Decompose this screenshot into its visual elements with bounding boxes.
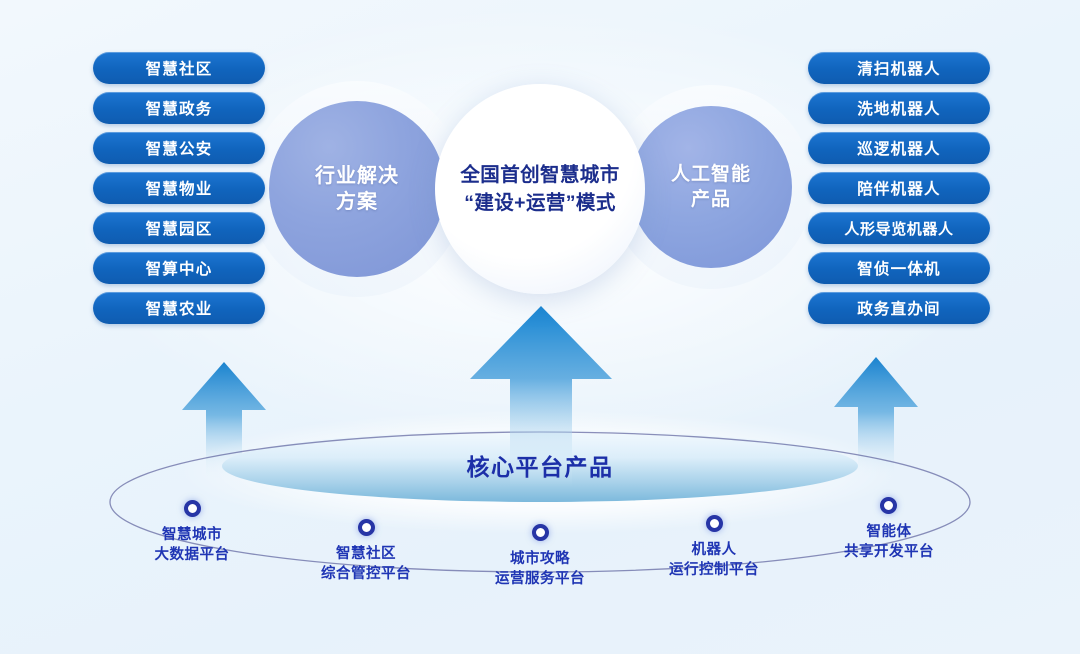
platform-node-1-label: 智慧城市 大数据平台 [132, 525, 252, 565]
right-pill-1-label: 清扫机器人 [857, 57, 941, 79]
platform-node-4-line1: 机器人 [644, 540, 784, 560]
platform-node-1-line1: 智慧城市 [132, 525, 252, 545]
platform-node-3[interactable] [532, 524, 549, 541]
platform-node-5-label: 智能体 共享开发平台 [828, 522, 950, 562]
platform-node-4-label: 机器人 运行控制平台 [644, 540, 784, 580]
platform-node-2-line1: 智慧社区 [296, 544, 436, 564]
platform-node-2-label: 智慧社区 综合管控平台 [296, 544, 436, 584]
right-pill-2-label: 洗地机器人 [857, 97, 941, 119]
right-pill-6[interactable]: 智侦一体机 [808, 252, 990, 284]
left-pill-2[interactable]: 智慧政务 [93, 92, 265, 124]
left-pill-5-label: 智慧园区 [146, 217, 213, 239]
right-pill-4-label: 陪伴机器人 [857, 177, 941, 199]
circle-ai-products-line1: 人工智能 [671, 162, 751, 187]
right-pill-7-label: 政务直办间 [857, 297, 941, 319]
left-pill-4-label: 智慧物业 [146, 177, 213, 199]
platform-node-3-line2: 运营服务平台 [470, 569, 610, 589]
left-pill-6-label: 智算中心 [146, 257, 213, 279]
core-platform-title: 核心平台产品 [0, 448, 1080, 482]
circle-core-model-line2: “建设+运营”模式 [460, 189, 619, 217]
left-pill-1[interactable]: 智慧社区 [93, 52, 265, 84]
right-pill-6-label: 智侦一体机 [857, 257, 941, 279]
left-pill-5[interactable]: 智慧园区 [93, 212, 265, 244]
left-pill-7-label: 智慧农业 [146, 297, 213, 319]
platform-node-5[interactable] [880, 497, 897, 514]
right-pill-3-label: 巡逻机器人 [857, 137, 941, 159]
platform-node-5-line1: 智能体 [828, 522, 950, 542]
platform-node-5-line2: 共享开发平台 [828, 542, 950, 562]
left-pill-1-label: 智慧社区 [146, 57, 213, 79]
circle-ai-products-line2: 产品 [671, 187, 751, 212]
left-pill-2-label: 智慧政务 [146, 97, 213, 119]
right-pill-3[interactable]: 巡逻机器人 [808, 132, 990, 164]
right-pill-2[interactable]: 洗地机器人 [808, 92, 990, 124]
platform-node-4[interactable] [706, 515, 723, 532]
right-pill-4[interactable]: 陪伴机器人 [808, 172, 990, 204]
platform-node-1[interactable] [184, 500, 201, 517]
platform-node-3-line1: 城市攻略 [470, 549, 610, 569]
circle-core-model-line1: 全国首创智慧城市 [460, 161, 619, 189]
right-pill-5[interactable]: 人形导览机器人 [808, 212, 990, 244]
circle-industry-solutions-line2: 方案 [315, 189, 399, 215]
left-pill-6[interactable]: 智算中心 [93, 252, 265, 284]
left-pill-4[interactable]: 智慧物业 [93, 172, 265, 204]
platform-node-1-line2: 大数据平台 [132, 545, 252, 565]
platform-node-2[interactable] [358, 519, 375, 536]
circle-ai-products[interactable]: 人工智能 产品 [630, 106, 792, 268]
platform-node-4-line2: 运行控制平台 [644, 560, 784, 580]
platform-node-2-line2: 综合管控平台 [296, 564, 436, 584]
left-pill-3-label: 智慧公安 [146, 137, 213, 159]
platform-node-3-label: 城市攻略 运营服务平台 [470, 549, 610, 589]
right-pill-5-label: 人形导览机器人 [844, 218, 953, 239]
circle-core-model[interactable]: 全国首创智慧城市 “建设+运营”模式 [435, 84, 645, 294]
right-pill-1[interactable]: 清扫机器人 [808, 52, 990, 84]
infographic-canvas: 智慧社区 智慧政务 智慧公安 智慧物业 智慧园区 智算中心 智慧农业 清扫机器人… [0, 0, 1080, 654]
circle-industry-solutions[interactable]: 行业解决 方案 [269, 101, 445, 277]
right-pill-7[interactable]: 政务直办间 [808, 292, 990, 324]
circle-industry-solutions-line1: 行业解决 [315, 163, 399, 189]
left-pill-7[interactable]: 智慧农业 [93, 292, 265, 324]
left-pill-3[interactable]: 智慧公安 [93, 132, 265, 164]
